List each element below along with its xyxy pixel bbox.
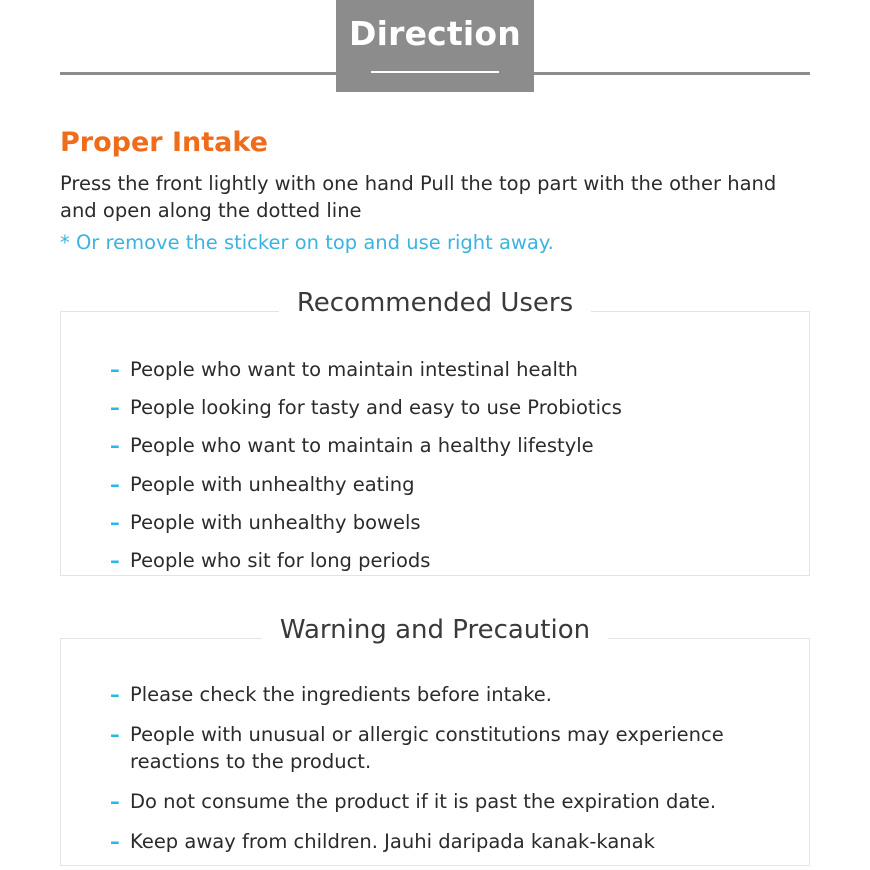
page-banner: Direction: [0, 0, 870, 92]
warning-precaution-section: Warning and Precaution – Please check th…: [60, 638, 810, 866]
dash-bullet-icon: –: [110, 394, 120, 422]
list-item: – People who sit for long periods: [110, 547, 809, 575]
list-item-label: People with unhealthy bowels: [130, 511, 421, 534]
dash-bullet-icon: –: [110, 547, 120, 575]
dash-bullet-icon: –: [110, 721, 120, 749]
list-item-label: Please check the ingredients before inta…: [130, 683, 552, 706]
list-item: – People who want to maintain a healthy …: [110, 432, 809, 460]
dash-bullet-icon: –: [110, 681, 120, 709]
list-item: – People who want to maintain intestinal…: [110, 356, 809, 384]
list-item-label: Keep away from children. Jauhi daripada …: [130, 830, 655, 853]
list-item: – People looking for tasty and easy to u…: [110, 394, 809, 422]
dash-bullet-icon: –: [110, 788, 120, 816]
list-item-label: People looking for tasty and easy to use…: [130, 396, 622, 419]
proper-intake-note: * Or remove the sticker on top and use r…: [60, 229, 810, 257]
direction-page: Direction Proper Intake Press the front …: [0, 0, 870, 870]
dash-bullet-icon: –: [110, 432, 120, 460]
list-item: – People with unhealthy eating: [110, 471, 809, 499]
dash-bullet-icon: –: [110, 471, 120, 499]
page-title: Direction: [336, 14, 534, 53]
recommended-users-list: – People who want to maintain intestinal…: [61, 312, 809, 575]
dash-bullet-icon: –: [110, 356, 120, 384]
banner-title-box: Direction: [336, 0, 534, 92]
list-item-label: People who want to maintain intestinal h…: [130, 358, 578, 381]
warning-precaution-list: – Please check the ingredients before in…: [61, 639, 809, 855]
list-item: – Please check the ingredients before in…: [110, 681, 780, 709]
list-item-label: Do not consume the product if it is past…: [130, 790, 716, 813]
list-item-label: People who sit for long periods: [130, 549, 430, 572]
list-item-label: People who want to maintain a healthy li…: [130, 434, 594, 457]
list-item: – Keep away from children. Jauhi daripad…: [110, 828, 780, 856]
list-item: – People with unhealthy bowels: [110, 509, 809, 537]
dash-bullet-icon: –: [110, 828, 120, 856]
proper-intake-block: Proper Intake Press the front lightly wi…: [60, 128, 810, 257]
recommended-users-section: Recommended Users – People who want to m…: [60, 311, 810, 576]
list-item-label: People with unhealthy eating: [130, 473, 414, 496]
proper-intake-body: Press the front lightly with one hand Pu…: [60, 170, 790, 225]
dash-bullet-icon: –: [110, 509, 120, 537]
list-item: – Do not consume the product if it is pa…: [110, 788, 780, 816]
list-item-label: People with unusual or allergic constitu…: [130, 723, 724, 774]
proper-intake-title: Proper Intake: [60, 128, 810, 158]
list-item: – People with unusual or allergic consti…: [110, 721, 780, 776]
banner-title-underline: [371, 71, 499, 73]
